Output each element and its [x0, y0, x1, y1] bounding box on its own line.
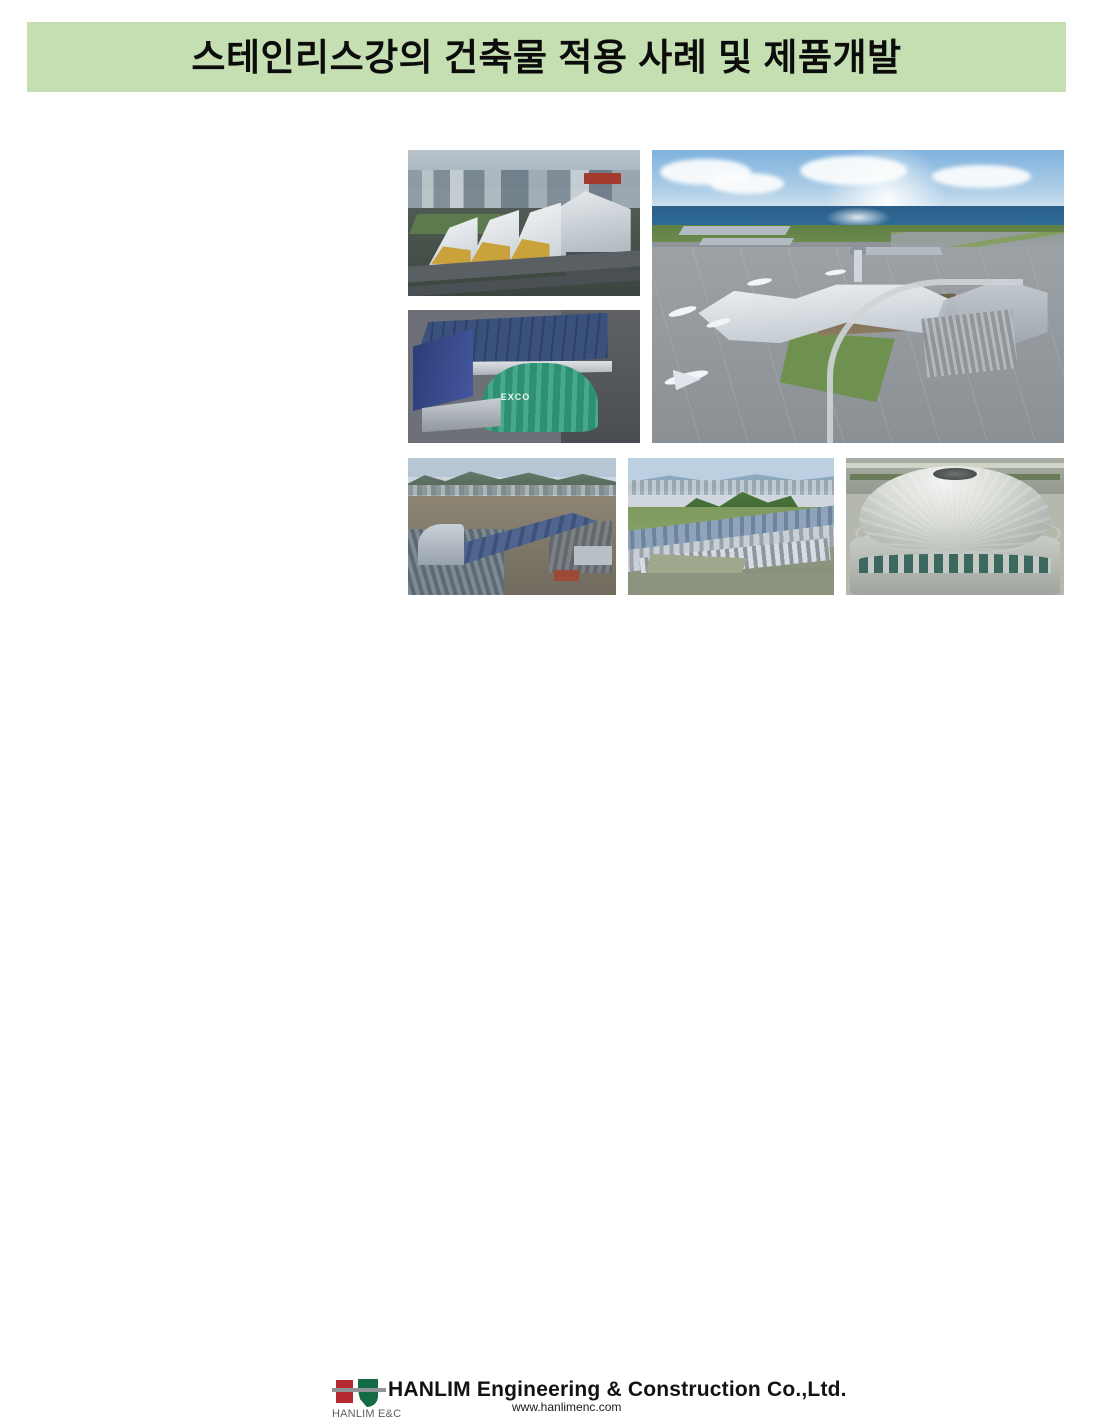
dome-oculus [933, 468, 977, 480]
company-url: www.hanlimenc.com [512, 1400, 621, 1414]
cloud-4 [932, 165, 1031, 188]
sky [628, 458, 834, 480]
satellite-pier-2 [699, 238, 794, 245]
billboard [584, 173, 621, 183]
sky [408, 458, 616, 477]
arched-gable [418, 524, 464, 565]
logo-wordmark: HANLIM E&C [332, 1408, 402, 1420]
exco-sign: EXCO [501, 392, 531, 402]
exco-scene: EXCO [408, 310, 640, 443]
slide-canvas: 스테인리스강의 건축물 적용 사례 및 제품개발 [0, 0, 1104, 745]
photo-dome-arena [846, 458, 1064, 595]
cloud-2 [710, 173, 784, 194]
airport-scene [652, 150, 1064, 443]
photo-bexco-convention-center [408, 150, 640, 296]
company-name: HANLIM Engineering & Construction Co.,Lt… [388, 1378, 847, 1402]
approach-road [628, 573, 834, 595]
dome-eave-ring [855, 513, 1062, 554]
satellite-pier-1 [678, 226, 790, 235]
photo-ktx-station [628, 458, 834, 595]
logo-gray-bar-icon [332, 1388, 386, 1392]
apartment-blocks [628, 480, 834, 495]
page-title: 스테인리스강의 건축물 적용 사례 및 제품개발 [191, 39, 901, 76]
photo-exco-daegu: EXCO [408, 310, 640, 443]
station-scene [628, 458, 834, 595]
bexco-scene [408, 150, 640, 296]
side-building [574, 546, 611, 565]
depot-scene [408, 458, 616, 595]
arena-windows [859, 554, 1051, 573]
slide-footer: HANLIM E&C HANLIM Engineering & Construc… [0, 686, 1104, 745]
photo-airport-terminal [652, 150, 1064, 443]
title-banner: 스테인리스강의 건축물 적용 사례 및 제품개발 [27, 22, 1066, 92]
red-roof-building [554, 570, 579, 581]
photo-railway-depot [408, 458, 616, 595]
cloud-3 [800, 156, 907, 185]
dome-scene [846, 458, 1064, 595]
logo-green-hook-icon [358, 1379, 378, 1407]
control-tower [854, 250, 862, 282]
